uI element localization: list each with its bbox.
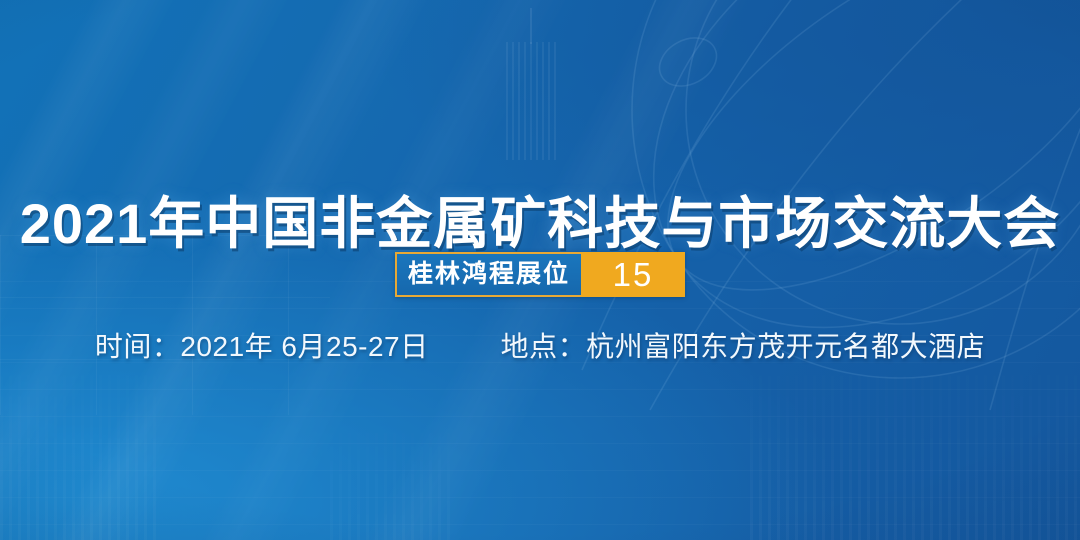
banner-content: 2021年中国非金属矿科技与市场交流大会 桂林鸿程展位 15 时间：2021年 … [0,0,1080,540]
banner-title: 2021年中国非金属矿科技与市场交流大会 [0,196,1080,252]
booth-badge-label: 桂林鸿程展位 [395,252,581,297]
banner-meta: 时间：2021年 6月25-27日 地点：杭州富阳东方茂开元名都大酒店 [0,330,1080,364]
booth-badge-number: 15 [581,252,685,297]
booth-badge: 桂林鸿程展位 15 [395,252,685,297]
event-venue: 地点：杭州富阳东方茂开元名都大酒店 [501,330,986,364]
conference-banner: 2021年中国非金属矿科技与市场交流大会 桂林鸿程展位 15 时间：2021年 … [0,0,1080,540]
event-date: 时间：2021年 6月25-27日 [95,330,429,364]
